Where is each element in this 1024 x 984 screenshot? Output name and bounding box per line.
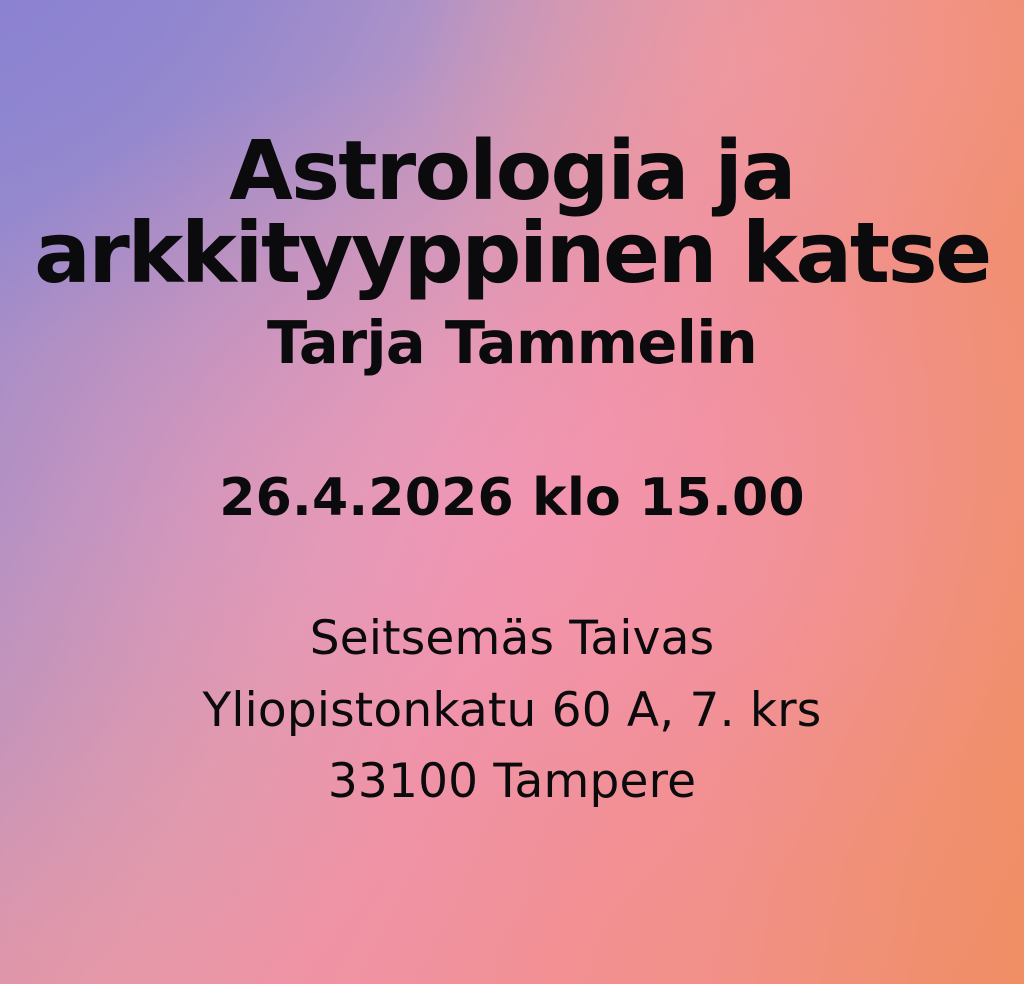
poster-speaker-name: Tarja Tammelin bbox=[267, 313, 757, 373]
poster-title: Astrologia ja arkkityyppinen katse bbox=[0, 132, 1024, 295]
poster-venue-address: Seitsemäs Taivas Yliopistonkatu 60 A, 7.… bbox=[0, 603, 1024, 817]
poster-venue-name: Seitsemäs Taivas bbox=[0, 603, 1024, 674]
event-poster: Astrologia ja arkkityyppinen katse Tarja… bbox=[0, 0, 1024, 984]
poster-title-line-2: arkkityyppinen katse bbox=[0, 212, 1024, 294]
poster-datetime: 26.4.2026 klo 15.00 bbox=[219, 471, 805, 526]
poster-venue-city: 33100 Tampere bbox=[0, 746, 1024, 817]
poster-title-line-1: Astrologia ja bbox=[0, 132, 1024, 212]
poster-venue-street: Yliopistonkatu 60 A, 7. krs bbox=[0, 675, 1024, 746]
poster-content: Astrologia ja arkkityyppinen katse Tarja… bbox=[0, 0, 1024, 984]
